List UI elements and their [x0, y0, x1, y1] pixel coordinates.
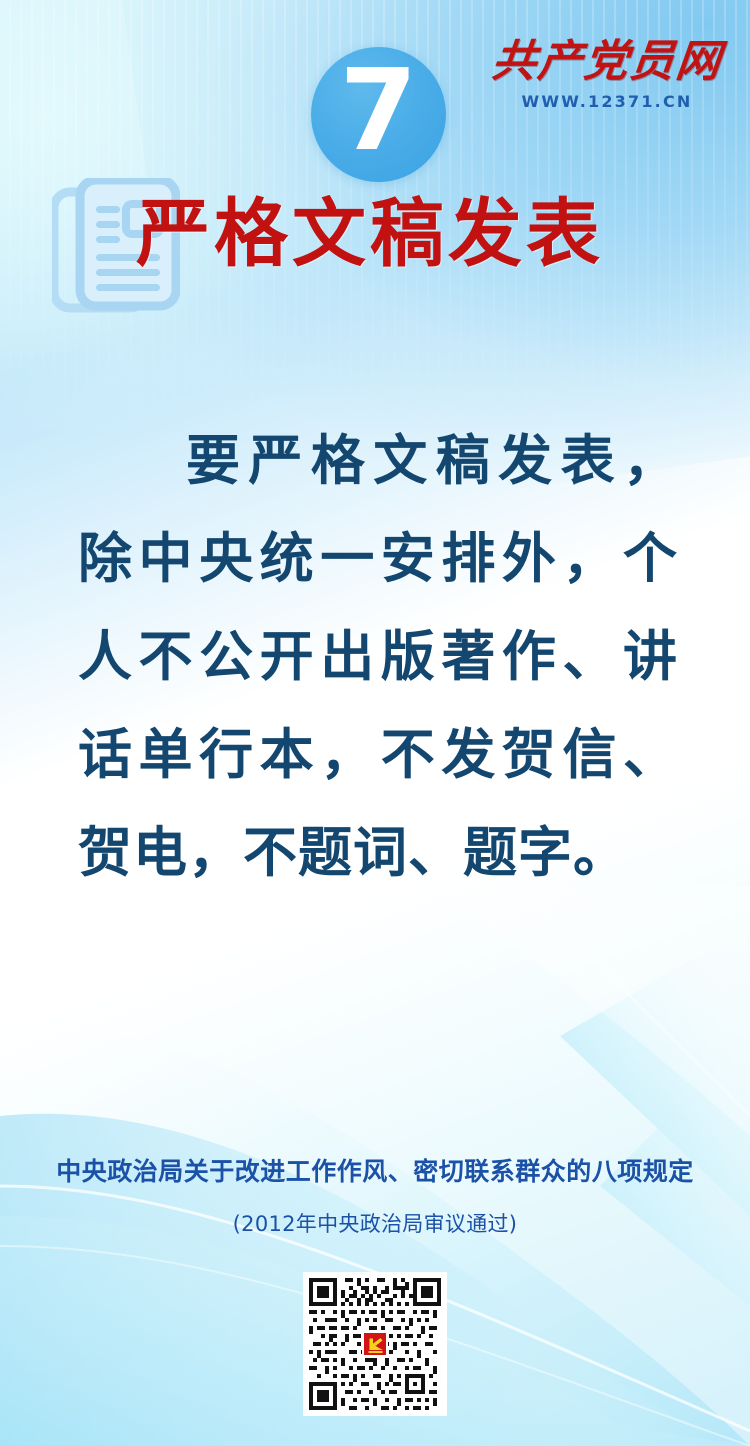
- brand-url: WWW.12371.CN: [492, 94, 722, 110]
- footer-regulation-title: 中央政治局关于改进工作作风、密切联系群众的八项规定: [0, 1152, 750, 1188]
- item-number-label: 7: [311, 47, 446, 182]
- page-title: 严格文稿发表: [136, 194, 604, 275]
- poster-canvas: 共产党员网 WWW.12371.CN 7: [0, 0, 750, 1446]
- footer-regulation-subtitle: (2012年中央政治局审议通过): [0, 1208, 750, 1238]
- regulation-body-text: 要严格文稿发表，除中央统一安排外，个人不公开出版著作、讲话单行本，不发贺信、贺电…: [78, 412, 678, 902]
- title-block: 严格文稿发表: [0, 186, 750, 316]
- site-brand[interactable]: 共产党员网 WWW.12371.CN: [492, 40, 722, 110]
- item-number-badge: 7: [311, 47, 446, 182]
- party-emblem-icon: [362, 1331, 388, 1357]
- brand-logo-calligraphy: 共产党员网: [490, 40, 725, 84]
- qr-code[interactable]: [303, 1272, 447, 1416]
